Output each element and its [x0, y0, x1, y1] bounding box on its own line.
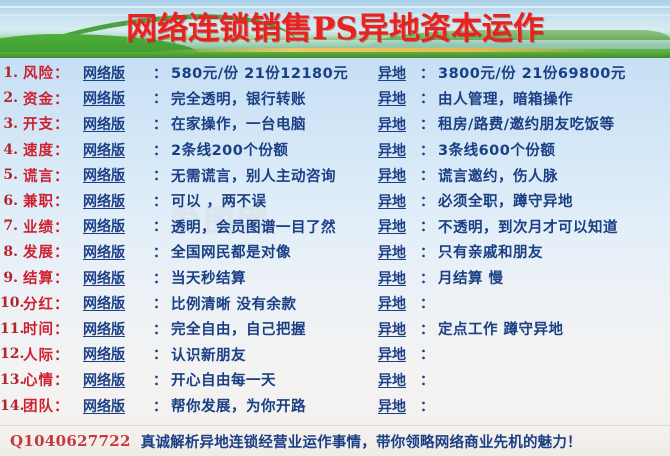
table-row: 1.风险：网络版：580元/份 21份12180元异地：3800元/份 21份6…	[0, 60, 670, 86]
right-column-group: 异地：不透明，到次月才可以知道	[378, 214, 618, 240]
right-column-tag: 异地	[378, 216, 420, 236]
left-column-value: 开心自由每一天	[171, 369, 276, 390]
footer-bar: Q1040627722 真诚解析异地连锁经营业运作事情，带你领略网络商业先机的魅…	[0, 425, 670, 456]
right-column-tag: 异地	[378, 370, 420, 390]
left-colon: ：	[153, 396, 171, 416]
row-category-label: 资金：	[18, 88, 83, 109]
row-category-label: 业绩：	[18, 216, 83, 237]
right-column-tag: 异地	[378, 344, 420, 364]
left-column-value: 透明，会员图谱一目了然	[171, 216, 336, 237]
right-column-group: 异地：只有亲戚和朋友	[378, 239, 543, 265]
right-column-group: 异地：	[378, 342, 438, 368]
row-category-label: 结算：	[18, 267, 83, 288]
left-column-tag: 网络版	[83, 165, 153, 185]
right-colon: ：	[420, 344, 438, 364]
left-colon: ：	[153, 165, 171, 185]
right-column-tag: 异地	[378, 242, 420, 262]
right-column-group: 异地：月结算 慢	[378, 265, 504, 291]
right-colon: ：	[420, 293, 438, 313]
left-column-tag: 网络版	[83, 344, 153, 364]
poster-root: 网络连锁销售PS异地资本运作 爱图网 1.风险：网络版：580元/份 21份12…	[0, 0, 670, 456]
left-column-tag: 网络版	[83, 370, 153, 390]
left-colon: ：	[153, 114, 171, 134]
right-colon: ：	[420, 114, 438, 134]
right-colon: ：	[420, 396, 438, 416]
right-column-value: 租房/路费/邀约朋友吃饭等	[438, 113, 615, 134]
right-column-value: 谎言邀约，伤人脉	[438, 165, 558, 186]
left-colon: ：	[153, 63, 171, 83]
left-colon: ：	[153, 370, 171, 390]
right-column-tag: 异地	[378, 140, 420, 160]
left-column-tag: 网络版	[83, 319, 153, 339]
right-column-tag: 异地	[378, 63, 420, 83]
right-colon: ：	[420, 63, 438, 83]
left-column-value: 可以 ，两不误	[171, 190, 267, 211]
right-column-group: 异地：租房/路费/邀约朋友吃饭等	[378, 111, 615, 137]
right-colon: ：	[420, 140, 438, 160]
left-column-tag: 网络版	[83, 396, 153, 416]
right-column-tag: 异地	[378, 88, 420, 108]
table-row: 9.结算：网络版：当天秒结算异地：月结算 慢	[0, 265, 670, 291]
table-row: 7.业绩：网络版：透明，会员图谱一目了然异地：不透明，到次月才可以知道	[0, 214, 670, 240]
right-colon: ：	[420, 319, 438, 339]
table-row: 5.谎言：网络版：无需谎言，别人主动咨询异地：谎言邀约，伤人脉	[0, 162, 670, 188]
row-category-label: 心情：	[18, 369, 83, 390]
table-row: 6.兼职：网络版：可以 ，两不误异地：必须全职，蹲守异地	[0, 188, 670, 214]
left-column-value: 当天秒结算	[171, 267, 246, 288]
left-column-value: 580元/份 21份12180元	[171, 62, 348, 83]
right-column-group: 异地：必须全职，蹲守异地	[378, 188, 573, 214]
row-category-label: 人际：	[18, 344, 83, 365]
row-category-label: 风险：	[18, 62, 83, 83]
row-index: 13.	[0, 372, 18, 388]
right-column-tag: 异地	[378, 293, 420, 313]
left-column-value: 在家操作，一台电脑	[171, 113, 306, 134]
right-column-value: 只有亲戚和朋友	[438, 241, 543, 262]
right-column-group: 异地：	[378, 393, 438, 419]
right-column-value: 必须全职，蹲守异地	[438, 190, 573, 211]
right-column-tag: 异地	[378, 319, 420, 339]
table-row: 13.心情：网络版：开心自由每一天异地：	[0, 367, 670, 393]
right-column-value: 不透明，到次月才可以知道	[438, 216, 618, 237]
right-colon: ：	[420, 88, 438, 108]
left-column-value: 帮你发展，为你开路	[171, 395, 306, 416]
left-column-tag: 网络版	[83, 293, 153, 313]
row-index: 1.	[0, 65, 18, 81]
right-colon: ：	[420, 165, 438, 185]
row-index: 6.	[0, 193, 18, 209]
table-row: 10.分红：网络版：比例清晰 没有余款异地：	[0, 290, 670, 316]
right-column-value: 3800元/份 21份69800元	[438, 62, 626, 83]
right-column-value: 月结算 慢	[438, 267, 504, 288]
right-column-group: 异地：定点工作 蹲守异地	[378, 316, 564, 342]
right-colon: ：	[420, 370, 438, 390]
left-column-value: 比例清晰 没有余款	[171, 293, 297, 314]
left-column-tag: 网络版	[83, 88, 153, 108]
row-index: 14.	[0, 398, 18, 414]
footer-slogan: 真诚解析异地连锁经营业运作事情，带你领略网络商业先机的魅力！	[131, 431, 582, 452]
row-index: 10.	[0, 295, 18, 311]
left-colon: ：	[153, 268, 171, 288]
left-column-tag: 网络版	[83, 216, 153, 236]
row-category-label: 团队：	[18, 395, 83, 416]
table-row: 11.时间：网络版：完全自由，自己把握异地：定点工作 蹲守异地	[0, 316, 670, 342]
right-column-tag: 异地	[378, 165, 420, 185]
row-index: 8.	[0, 244, 18, 260]
left-column-tag: 网络版	[83, 191, 153, 211]
row-category-label: 时间：	[18, 318, 83, 339]
table-row: 2.资金：网络版：完全透明，银行转账异地：由人管理，暗箱操作	[0, 86, 670, 112]
row-index: 12.	[0, 346, 18, 362]
right-column-group: 异地：谎言邀约，伤人脉	[378, 162, 558, 188]
row-index: 4.	[0, 142, 18, 158]
right-colon: ：	[420, 268, 438, 288]
contact-qq-number[interactable]: Q1040627722	[0, 432, 131, 450]
left-colon: ：	[153, 293, 171, 313]
right-colon: ：	[420, 242, 438, 262]
left-colon: ：	[153, 242, 171, 262]
row-category-label: 速度：	[18, 139, 83, 160]
left-column-tag: 网络版	[83, 63, 153, 83]
table-row: 12.人际：网络版：认识新朋友异地：	[0, 342, 670, 368]
right-column-group: 异地：由人管理，暗箱操作	[378, 86, 573, 112]
right-colon: ：	[420, 191, 438, 211]
left-colon: ：	[153, 344, 171, 364]
right-column-group: 异地：3条线600个份额	[378, 137, 555, 163]
right-colon: ：	[420, 216, 438, 236]
right-column-group: 异地：	[378, 367, 438, 393]
left-colon: ：	[153, 140, 171, 160]
row-index: 9.	[0, 270, 18, 286]
left-column-value: 认识新朋友	[171, 344, 246, 365]
right-column-group: 异地：3800元/份 21份69800元	[378, 60, 626, 86]
left-colon: ：	[153, 216, 171, 236]
left-column-tag: 网络版	[83, 242, 153, 262]
left-column-tag: 网络版	[83, 140, 153, 160]
row-category-label: 开支：	[18, 113, 83, 134]
row-category-label: 谎言：	[18, 165, 83, 186]
header-banner: 网络连锁销售PS异地资本运作	[0, 0, 670, 58]
comparison-table: 1.风险：网络版：580元/份 21份12180元异地：3800元/份 21份6…	[0, 60, 670, 418]
row-category-label: 分红：	[18, 293, 83, 314]
left-colon: ：	[153, 88, 171, 108]
right-column-tag: 异地	[378, 396, 420, 416]
left-column-value: 完全透明，银行转账	[171, 88, 306, 109]
row-index: 11.	[0, 321, 18, 337]
left-column-tag: 网络版	[83, 268, 153, 288]
right-column-tag: 异地	[378, 268, 420, 288]
right-column-tag: 异地	[378, 114, 420, 134]
left-column-value: 无需谎言，别人主动咨询	[171, 165, 336, 186]
left-column-tag: 网络版	[83, 114, 153, 134]
right-column-tag: 异地	[378, 191, 420, 211]
page-title: 网络连锁销售PS异地资本运作	[0, 0, 670, 58]
table-row: 4.速度：网络版：2条线200个份额异地：3条线600个份额	[0, 137, 670, 163]
left-column-value: 全国网民都是对像	[171, 241, 291, 262]
right-column-value: 由人管理，暗箱操作	[438, 88, 573, 109]
left-column-value: 2条线200个份额	[171, 139, 288, 160]
table-row: 8.发展：网络版：全国网民都是对像异地：只有亲戚和朋友	[0, 239, 670, 265]
table-row: 3.开支：网络版：在家操作，一台电脑异地：租房/路费/邀约朋友吃饭等	[0, 111, 670, 137]
left-colon: ：	[153, 191, 171, 211]
left-column-value: 完全自由，自己把握	[171, 318, 306, 339]
row-category-label: 兼职：	[18, 190, 83, 211]
table-row: 14.团队：网络版：帮你发展，为你开路异地：	[0, 393, 670, 419]
right-column-value: 3条线600个份额	[438, 139, 555, 160]
row-index: 2.	[0, 90, 18, 106]
right-column-group: 异地：	[378, 290, 438, 316]
right-column-value: 定点工作 蹲守异地	[438, 318, 564, 339]
row-category-label: 发展：	[18, 241, 83, 262]
row-index: 3.	[0, 116, 18, 132]
row-index: 5.	[0, 167, 18, 183]
left-colon: ：	[153, 319, 171, 339]
row-index: 7.	[0, 218, 18, 234]
